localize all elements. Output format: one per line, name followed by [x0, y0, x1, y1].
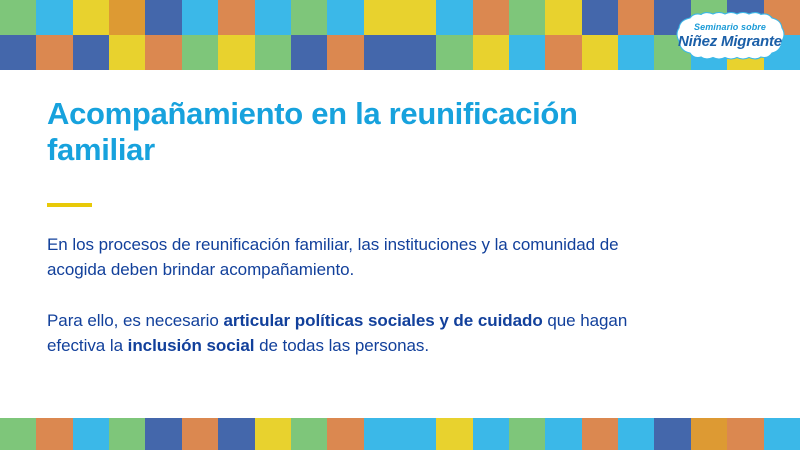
mosaic-cell-yellow	[582, 35, 618, 70]
mosaic-cell-orange	[327, 35, 363, 70]
mosaic-cell-orange	[145, 35, 181, 70]
mosaic-cell-green	[291, 418, 327, 450]
mosaic-cell-yellow	[473, 35, 509, 70]
mosaic-cell-orange	[545, 35, 581, 70]
para2-text-1: Para ello, es necesario	[47, 311, 223, 330]
mosaic-cell-green	[255, 35, 291, 70]
body-paragraph-2: Para ello, es necesario articular políti…	[47, 308, 652, 359]
mosaic-cell-cyan	[473, 418, 509, 450]
mosaic-cell-green	[436, 35, 472, 70]
mosaic-cell-green	[509, 418, 545, 450]
mosaic-cell-yellow	[436, 418, 472, 450]
title-divider	[47, 203, 92, 207]
mosaic-cell-cyan	[327, 0, 363, 35]
bottom-decorative-band	[0, 418, 800, 450]
mosaic-cell-blue	[0, 35, 36, 70]
mosaic-cell-green	[0, 418, 36, 450]
mosaic-cell-orange	[218, 0, 254, 35]
mosaic-cell-blue	[291, 35, 327, 70]
mosaic-cell-cyan	[618, 418, 654, 450]
mosaic-cell-green	[109, 418, 145, 450]
mosaic-cell-green	[0, 0, 36, 35]
mosaic-cell-blue	[364, 35, 400, 70]
mosaic-cell-cyan	[764, 418, 800, 450]
mosaic-cell-amber	[691, 418, 727, 450]
mosaic-cell-yellow	[400, 0, 436, 35]
bottom-band-row-1	[0, 418, 800, 450]
mosaic-cell-cyan	[182, 0, 218, 35]
mosaic-cell-yellow	[364, 0, 400, 35]
mosaic-cell-yellow	[73, 0, 109, 35]
mosaic-cell-cyan	[36, 0, 72, 35]
mosaic-cell-cyan	[400, 418, 436, 450]
mosaic-cell-yellow	[109, 35, 145, 70]
mosaic-cell-yellow	[255, 418, 291, 450]
mosaic-cell-cyan	[509, 35, 545, 70]
mosaic-cell-green	[182, 35, 218, 70]
logo-text-group: Seminario sobre Niñez Migrante	[674, 12, 786, 60]
para2-emphasis-2: inclusión social	[128, 336, 255, 355]
mosaic-cell-cyan	[364, 418, 400, 450]
mosaic-cell-blue	[73, 35, 109, 70]
mosaic-cell-orange	[473, 0, 509, 35]
body-paragraph-1: En los procesos de reunificación familia…	[47, 232, 652, 283]
seminar-logo-badge: Seminario sobre Niñez Migrante	[674, 12, 786, 60]
mosaic-cell-cyan	[436, 0, 472, 35]
mosaic-cell-blue	[218, 418, 254, 450]
para2-text-3: de todas las personas.	[254, 336, 429, 355]
mosaic-cell-orange	[36, 35, 72, 70]
mosaic-cell-yellow	[545, 0, 581, 35]
mosaic-cell-orange	[36, 418, 72, 450]
mosaic-cell-amber	[109, 0, 145, 35]
mosaic-cell-cyan	[73, 418, 109, 450]
mosaic-cell-blue	[145, 0, 181, 35]
mosaic-cell-blue	[145, 418, 181, 450]
mosaic-cell-orange	[582, 418, 618, 450]
logo-line-ninez-migrante: Niñez Migrante	[678, 34, 782, 49]
mosaic-cell-orange	[727, 418, 763, 450]
mosaic-cell-blue	[582, 0, 618, 35]
mosaic-cell-cyan	[545, 418, 581, 450]
slide-content: Acompañamiento en la reunificación famil…	[47, 96, 687, 359]
mosaic-cell-blue	[654, 418, 690, 450]
page-title: Acompañamiento en la reunificación famil…	[47, 96, 647, 169]
logo-line-seminario: Seminario sobre	[694, 23, 766, 32]
mosaic-cell-cyan	[255, 0, 291, 35]
mosaic-cell-blue	[400, 35, 436, 70]
mosaic-cell-orange	[618, 0, 654, 35]
para2-emphasis-1: articular políticas sociales y de cuidad…	[223, 311, 542, 330]
mosaic-cell-orange	[182, 418, 218, 450]
mosaic-cell-green	[509, 0, 545, 35]
mosaic-cell-cyan	[618, 35, 654, 70]
mosaic-cell-yellow	[218, 35, 254, 70]
mosaic-cell-green	[291, 0, 327, 35]
mosaic-cell-orange	[327, 418, 363, 450]
